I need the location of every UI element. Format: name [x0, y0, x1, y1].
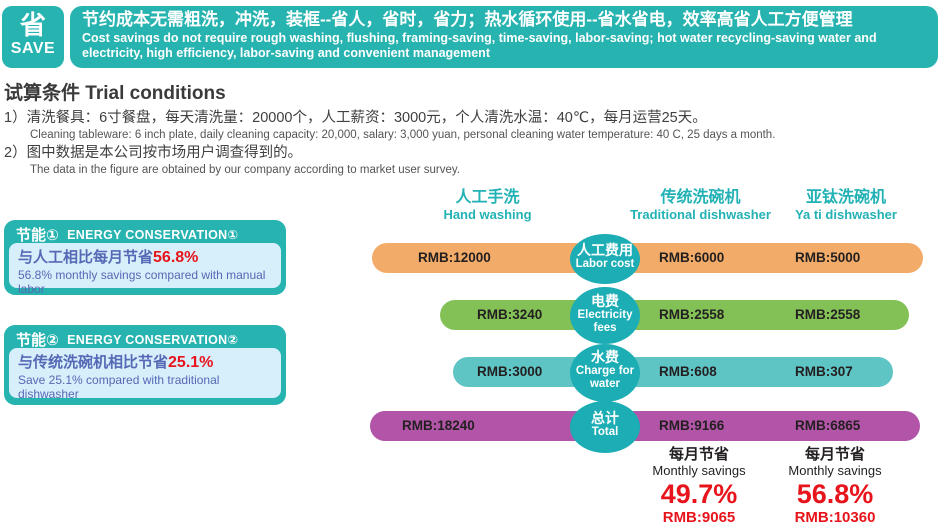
column-header-hand-washing-en: Hand washing	[395, 207, 580, 223]
bar-value-electricity-hand: RMB:3240	[477, 300, 542, 330]
savings-traditional-label-cn: 每月节省	[624, 446, 774, 463]
bar-value-total-traditional: RMB:9166	[659, 411, 724, 441]
row-circle-labor-cost: 人工费用 Labor cost	[570, 234, 640, 284]
bar-value-total-hand: RMB:18240	[402, 411, 475, 441]
savings-yati-percent: 56.8%	[760, 479, 910, 509]
column-header-yati-dishwasher-cn: 亚钛洗碗机	[758, 188, 934, 207]
savings-traditional-label-en: Monthly savings	[624, 463, 774, 479]
row-circle-total-cn: 总计	[570, 410, 640, 426]
bar-value-water-yati: RMB:307	[795, 357, 853, 387]
bar-value-electricity-traditional: RMB:2558	[659, 300, 724, 330]
column-header-yati-dishwasher-en: Ya ti dishwasher	[758, 207, 934, 223]
bar-value-labor-traditional: RMB:6000	[659, 243, 724, 273]
row-circle-labor-cost-en: Labor cost	[570, 258, 640, 271]
row-circle-electricity-fees-cn: 电费	[570, 293, 640, 309]
bar-value-electricity-yati: RMB:2558	[795, 300, 860, 330]
savings-yati-label-cn: 每月节省	[760, 446, 910, 463]
bar-value-water-traditional: RMB:608	[659, 357, 717, 387]
row-circle-charge-for-water-cn: 水费	[570, 349, 640, 365]
savings-yati-label-en: Monthly savings	[760, 463, 910, 479]
column-header-yati-dishwasher: 亚钛洗碗机 Ya ti dishwasher	[758, 188, 934, 223]
row-circle-electricity-fees-en: Electricity fees	[570, 309, 640, 335]
column-header-hand-washing: 人工手洗 Hand washing	[395, 188, 580, 223]
savings-block-traditional: 每月节省 Monthly savings 49.7% RMB:9065	[624, 446, 774, 527]
column-header-hand-washing-cn: 人工手洗	[395, 188, 580, 207]
row-circle-total-en: Total	[570, 426, 640, 439]
row-circle-electricity-fees: 电费 Electricity fees	[570, 287, 640, 344]
bar-value-labor-yati: RMB:5000	[795, 243, 860, 273]
row-circle-charge-for-water: 水费 Charge for water	[570, 344, 640, 402]
savings-yati-amount: RMB:10360	[760, 509, 910, 527]
bar-value-water-hand: RMB:3000	[477, 357, 542, 387]
savings-traditional-amount: RMB:9065	[624, 509, 774, 527]
savings-traditional-percent: 49.7%	[624, 479, 774, 509]
cost-comparison-chart: 人工手洗 Hand washing 传统洗碗机 Traditional dish…	[0, 0, 940, 518]
bar-value-total-yati: RMB:6865	[795, 411, 860, 441]
savings-block-yati: 每月节省 Monthly savings 56.8% RMB:10360	[760, 446, 910, 527]
bar-value-labor-hand: RMB:12000	[418, 243, 491, 273]
row-circle-labor-cost-cn: 人工费用	[570, 242, 640, 258]
row-circle-charge-for-water-en: Charge for water	[570, 365, 640, 391]
